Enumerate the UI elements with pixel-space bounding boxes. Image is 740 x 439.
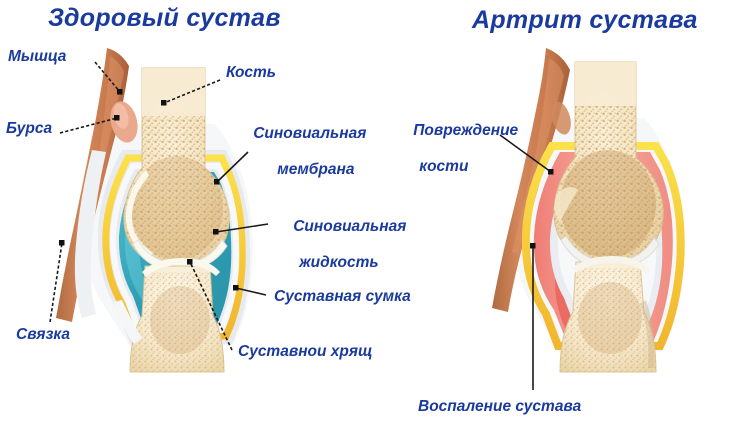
tibia-marrow-core: [150, 286, 210, 354]
label-synovial-fluid-line2: жидкость: [293, 254, 378, 272]
endpoint-ligament: [59, 240, 65, 246]
left-figure-title: Здоровый сустав: [48, 4, 281, 33]
healthy-joint-figure: [56, 48, 253, 376]
label-joint-capsule: Суставная сумка: [274, 288, 411, 306]
endpoint-synovial-fluid: [213, 229, 219, 235]
endpoint-muscle: [117, 89, 123, 95]
label-ligament: Связка: [16, 326, 70, 344]
endpoint-bursa: [114, 115, 120, 121]
endpoint-joint-capsule: [233, 285, 239, 291]
label-muscle: Мышца: [8, 48, 66, 66]
label-synovial-fluid-line1: Синовиальная: [293, 218, 406, 235]
diagram-canvas: Здоровый сустав Артрит сустава Мышца Бур…: [0, 0, 740, 439]
endpoint-bone-damage: [548, 169, 554, 175]
label-bone-damage-line2: кости: [413, 158, 468, 176]
right-figure-title: Артрит сустава: [472, 6, 698, 35]
endpoint-articular-cartilage: [187, 259, 193, 265]
label-bursa: Бурса: [6, 120, 52, 138]
endpoint-bone: [161, 100, 167, 106]
label-articular-cartilage: Суставнои хрящ: [238, 343, 373, 361]
label-synovial-membrane-line2: мембрана: [253, 161, 354, 179]
arthritic-joint-figure: [492, 48, 685, 376]
label-bone-damage: Повреждение кости: [396, 104, 518, 194]
label-synovial-fluid: Синовиальная жидкость: [276, 200, 406, 290]
arthritic-tibia-marrow-core: [578, 282, 642, 354]
arthritic-femur-shaft-cortex: [573, 58, 639, 106]
label-bone-damage-line1: Повреждение: [413, 122, 518, 139]
label-synovial-membrane: Синовиальная мембрана: [236, 107, 366, 197]
endpoint-joint-inflammation: [530, 243, 536, 249]
endpoint-synovial-membrane: [214, 179, 220, 185]
label-joint-inflammation: Воспаление сустава: [418, 398, 581, 416]
label-bone: Кость: [226, 64, 276, 82]
arthritic-femur-marrow-core: [560, 150, 656, 258]
label-synovial-membrane-line1: Синовиальная: [253, 125, 366, 142]
femur-shaft-cortex: [140, 64, 208, 116]
